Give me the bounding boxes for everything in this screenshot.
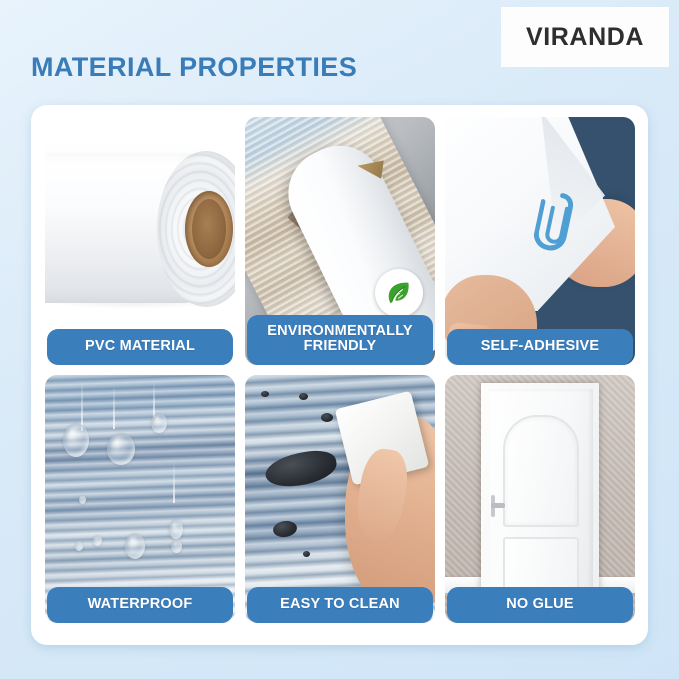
stain-small-2 bbox=[299, 393, 308, 400]
self-adhesive-image bbox=[445, 117, 635, 365]
brand-name: VIRANDA bbox=[526, 23, 644, 52]
easy-to-clean-image bbox=[245, 375, 435, 623]
brand-logo: VIRANDA bbox=[502, 8, 668, 66]
feature-label-easy-to-clean: EASY TO CLEAN bbox=[247, 587, 433, 623]
water-drop-6 bbox=[171, 539, 182, 553]
water-drop-8 bbox=[93, 535, 102, 546]
feature-card-environmentally-friendly[interactable]: ENVIRONMENTALLY FRIENDLY bbox=[245, 117, 435, 365]
no-glue-image bbox=[445, 375, 635, 623]
water-drop-7 bbox=[75, 541, 83, 551]
drop-trail-4 bbox=[173, 461, 175, 503]
water-drop-5 bbox=[169, 519, 183, 539]
door-handle bbox=[491, 503, 505, 508]
feature-label-waterproof: WATERPROOF bbox=[47, 587, 233, 623]
pvc-roll-illustration bbox=[45, 117, 235, 365]
water-drop-1 bbox=[63, 423, 89, 457]
page-title: MATERIAL PROPERTIES bbox=[31, 52, 357, 83]
feature-label-self-adhesive: SELF-ADHESIVE bbox=[447, 329, 633, 365]
water-drop-3 bbox=[151, 413, 167, 433]
feature-card-waterproof[interactable]: WATERPROOF bbox=[45, 375, 235, 623]
feature-card-no-glue[interactable]: NO GLUE bbox=[445, 375, 635, 623]
water-drop-4 bbox=[125, 533, 145, 559]
leaf-badge bbox=[375, 269, 423, 317]
stain-dot bbox=[303, 551, 310, 557]
leaf-icon bbox=[384, 278, 414, 308]
waterproof-image bbox=[45, 375, 235, 623]
stain-small-1 bbox=[321, 413, 333, 422]
roll-core-inner bbox=[192, 199, 226, 259]
drop-trail-1 bbox=[81, 379, 83, 431]
door-panel-top bbox=[503, 415, 579, 527]
water-drop-9 bbox=[79, 495, 86, 504]
feature-label-pvc-material: PVC MATERIAL bbox=[47, 329, 233, 365]
stain-small-3 bbox=[261, 391, 269, 397]
water-drop-2 bbox=[107, 433, 135, 465]
feature-card-easy-to-clean[interactable]: EASY TO CLEAN bbox=[245, 375, 435, 623]
pvc-roll-image bbox=[45, 117, 235, 365]
feature-card-self-adhesive[interactable]: SELF-ADHESIVE bbox=[445, 117, 635, 365]
feature-card-pvc-material[interactable]: PVC MATERIAL bbox=[45, 117, 235, 365]
drop-trail-3 bbox=[153, 381, 155, 417]
feature-label-environmentally-friendly: ENVIRONMENTALLY FRIENDLY bbox=[247, 315, 433, 365]
drop-trail-2 bbox=[113, 385, 115, 429]
feature-grid: PVC MATERIAL ENVIRONMENTALLY FRIENDLY bbox=[45, 117, 635, 632]
water-surface-texture bbox=[45, 375, 235, 623]
door-panel-bottom bbox=[503, 537, 579, 591]
feature-label-no-glue: NO GLUE bbox=[447, 587, 633, 623]
